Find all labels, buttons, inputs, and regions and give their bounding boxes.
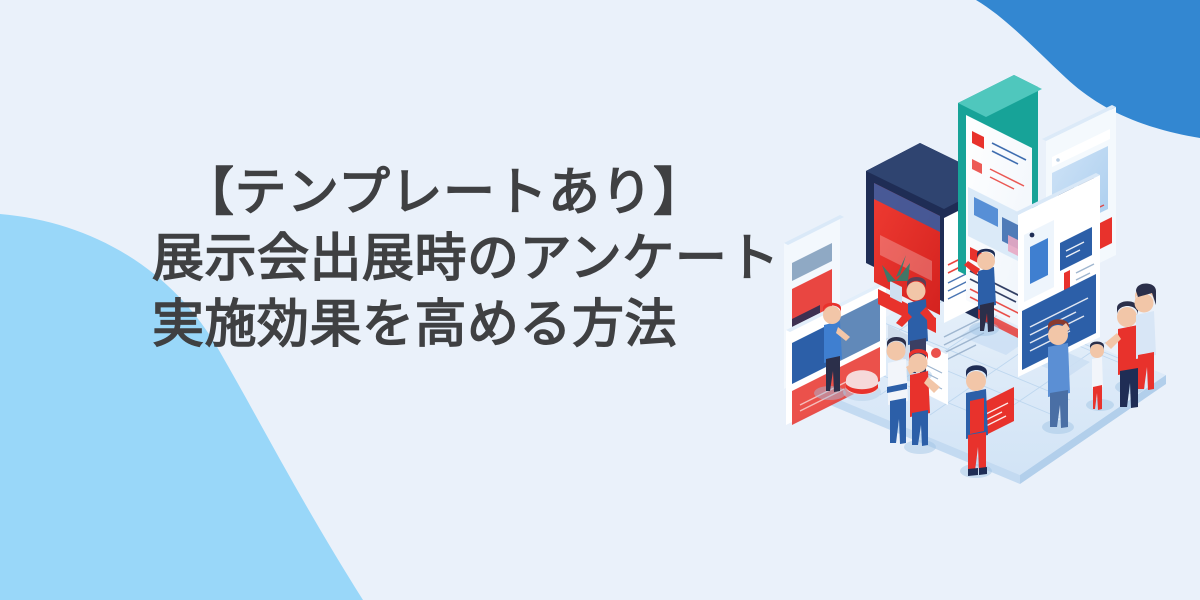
hero-banner: 【テンプレートあり】 展示会出展時のアンケート 実施効果を高める方法 xyxy=(0,0,1200,600)
page-title-line-1: 【テンプレートあり】 xyxy=(152,160,812,226)
page-title-line-2: 展示会出展時のアンケート xyxy=(152,226,812,292)
isometric-trade-show-booth-scene xyxy=(770,75,1200,505)
page-title: 【テンプレートあり】 展示会出展時のアンケート 実施効果を高める方法 xyxy=(152,160,812,358)
prop-hassock xyxy=(843,370,881,401)
page-title-line-3: 実施効果を高める方法 xyxy=(152,292,812,358)
illustration-container xyxy=(770,75,1200,505)
person-7 xyxy=(1048,319,1070,428)
